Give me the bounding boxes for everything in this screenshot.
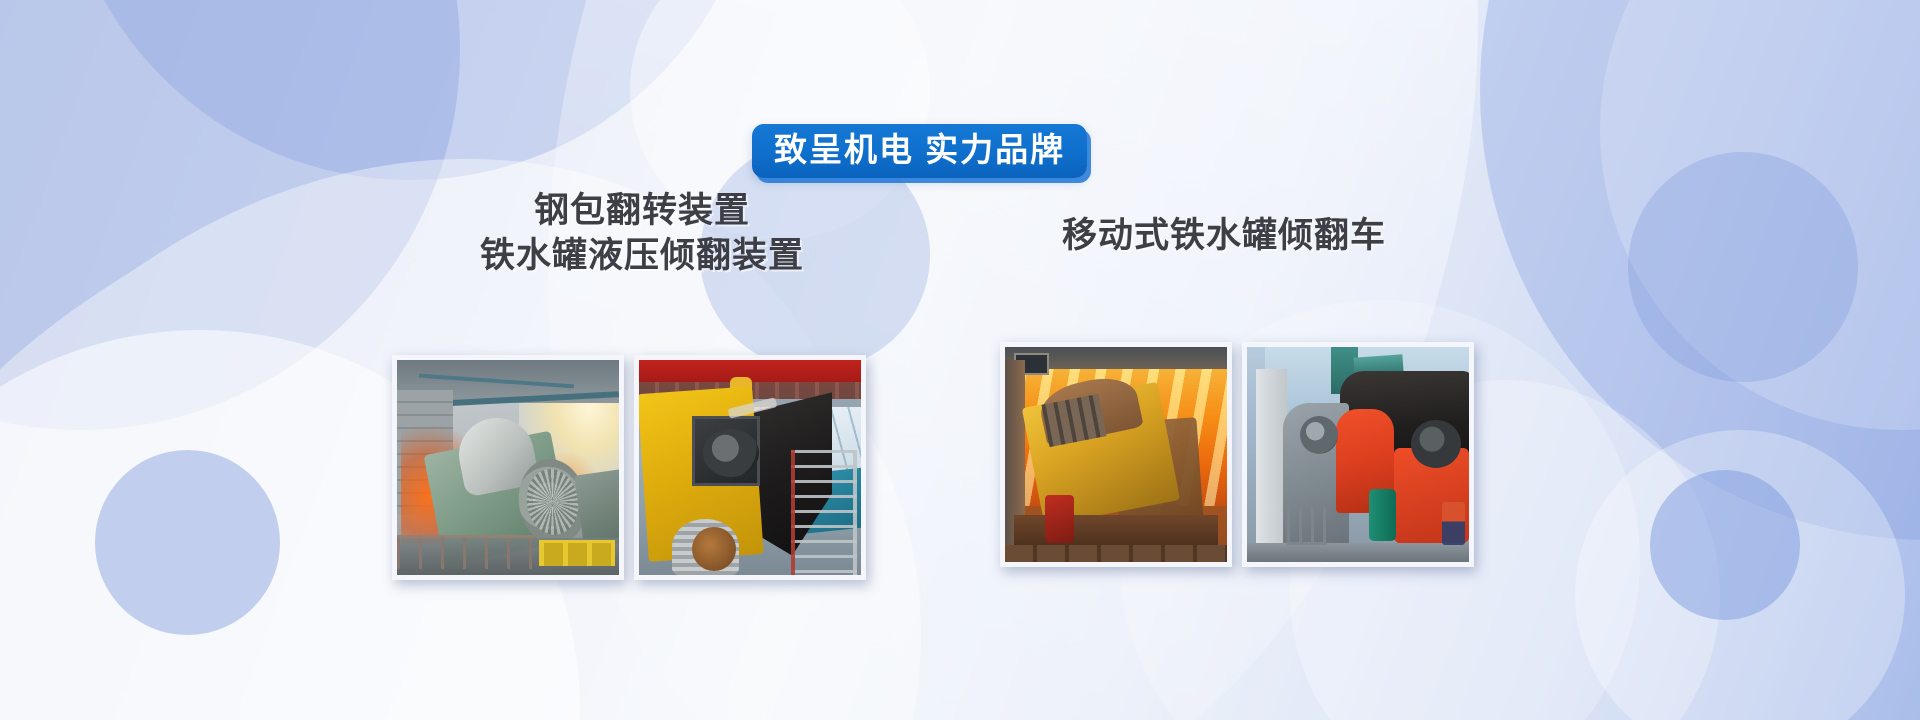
product-title-mobile-tipping-car: 移动式铁水罐倾翻车 [1062,213,1386,258]
brand-slogan-badge: 致呈机电 实力品牌 [752,124,1087,178]
photo-yellow-tilter-with-black-ladle[interactable] [634,355,866,580]
product-photo-group-left [392,355,866,580]
background-circle-8 [1600,0,1920,430]
photo-green-ladle-tipper-in-plant[interactable] [392,355,624,580]
photo-tipping-car-at-glowing-furnace[interactable] [1000,342,1232,567]
background-circle-12 [1650,470,1800,620]
product-title-ladle-tilting-device: 钢包翻转装置 铁水罐液压倾翻装置 [480,188,804,278]
background-circle-11 [1575,430,1905,720]
background-circle-7 [1480,0,1920,540]
photo-orange-tipping-car-closeup[interactable] [1242,342,1474,567]
product-photo-group-right [1000,342,1474,567]
background-circle-9 [1628,152,1858,382]
product-title-line-1: 钢包翻转装置 [480,188,804,233]
promo-banner: 致呈机电 实力品牌 钢包翻转装置 铁水罐液压倾翻装置 移动式铁水罐倾翻车 [0,0,1920,720]
product-title-line-2: 铁水罐液压倾翻装置 [480,233,804,278]
